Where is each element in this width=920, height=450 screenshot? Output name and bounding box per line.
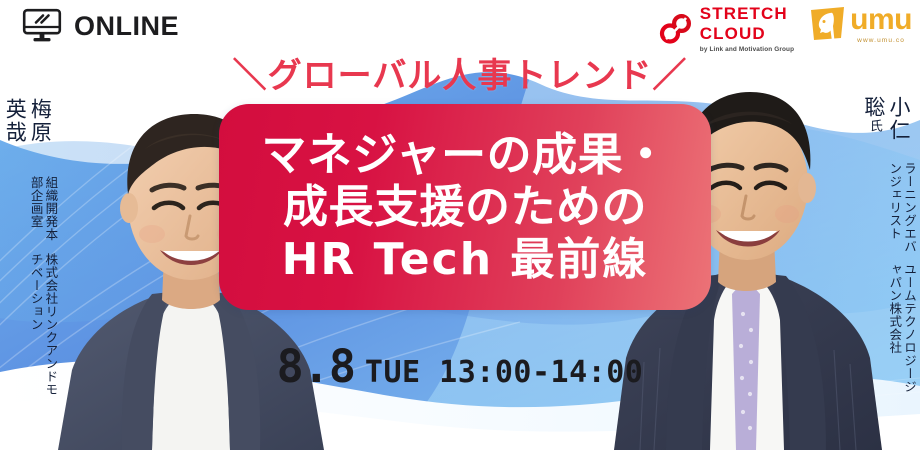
monitor-icon (22, 8, 62, 44)
event-date-day: 8.8 (277, 340, 355, 393)
umu-logo: umu www.umu.co (808, 6, 912, 46)
stretch-cloud-line1: STRETCH (700, 5, 794, 22)
event-date-detail: TUE 13:00-14:00 (365, 355, 643, 390)
speaker-left-org: 株式会社リンクアンドモチベーション (2, 253, 57, 398)
event-date: 8.8 TUE 13:00-14:00 (0, 340, 920, 393)
speaker-right-name: 小仁 聡氏 (861, 96, 911, 162)
umu-horse-icon (808, 6, 848, 46)
stretch-cloud-tagline: by Link and Motivation Group (700, 47, 794, 53)
title-card: マネジャーの成果・ 成長支援のための HR Tech 最前線 (219, 104, 711, 310)
speaker-left-role: 組織開発本部企画室 (2, 176, 57, 253)
logo-group: STRETCH CLOUD by Link and Motivation Gro… (659, 5, 912, 53)
title-line-2: 成長支援のための (283, 181, 647, 233)
stretch-cloud-line2: CLOUD (700, 25, 794, 42)
stretch-cloud-logo: STRETCH CLOUD by Link and Motivation Gro… (659, 5, 794, 53)
webinar-banner: ONLINE STRETCH CLOUD by Link and Motivat… (0, 0, 920, 450)
speaker-right-org: ユームテクノロジージャパン株式会社 (861, 263, 916, 396)
title-line-3: HR Tech 最前線 (282, 234, 649, 285)
speaker-caption-left: 株式会社リンクアンドモチベーション 組織開発本部企画室 梅原 英哉 (2, 98, 57, 398)
online-label: ONLINE (74, 11, 179, 42)
speaker-right-role: ラーニングエバンジェリスト (861, 162, 916, 263)
kicker-text: ＼グローバル人事トレンド／ (0, 48, 920, 97)
title-line-1: マネジャーの成果・ (261, 129, 668, 181)
speaker-caption-right: ユームテクノロジージャパン株式会社 ラーニングエバンジェリスト 小仁 聡氏 (861, 96, 916, 396)
umu-url: www.umu.co (850, 37, 912, 44)
online-badge: ONLINE (22, 8, 179, 44)
speaker-left-name: 梅原 英哉 (2, 98, 52, 176)
stretch-cloud-infinity-icon (659, 12, 693, 46)
speaker-right-name-suffix: 氏 (867, 119, 882, 134)
umu-wordmark: umu (850, 6, 912, 35)
